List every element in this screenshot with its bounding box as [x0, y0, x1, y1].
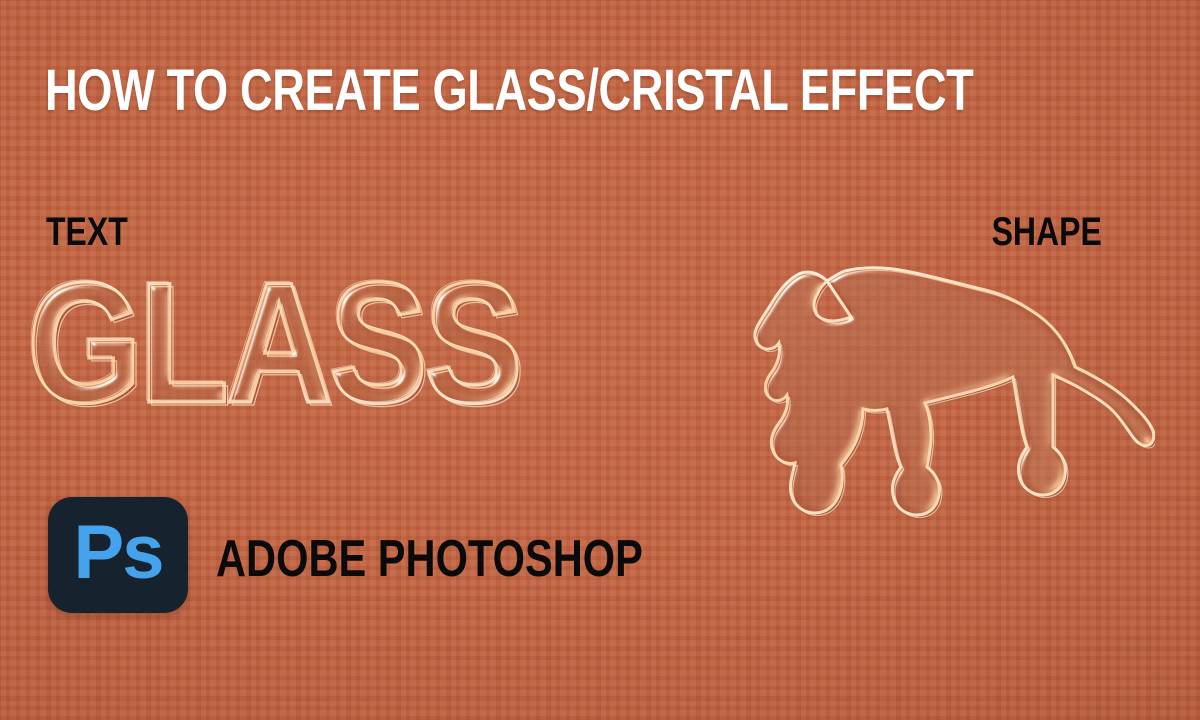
app-caption: ADOBE PHOTOSHOP: [216, 533, 643, 585]
glass-shape-artwork: [735, 243, 1155, 543]
photoshop-icon: Ps: [48, 497, 188, 613]
thumbnail-canvas: HOW TO CREATE GLASS/CRISTAL EFFECT TEXT …: [0, 0, 1200, 720]
label-text: TEXT: [46, 212, 128, 252]
lion-shape-svg: [735, 243, 1155, 543]
glass-text-artwork: GLASS: [22, 252, 702, 442]
page-title: HOW TO CREATE GLASS/CRISTAL EFFECT: [45, 62, 973, 120]
photoshop-icon-glyph: Ps: [74, 515, 163, 591]
glass-text-svg: GLASS: [22, 252, 702, 442]
